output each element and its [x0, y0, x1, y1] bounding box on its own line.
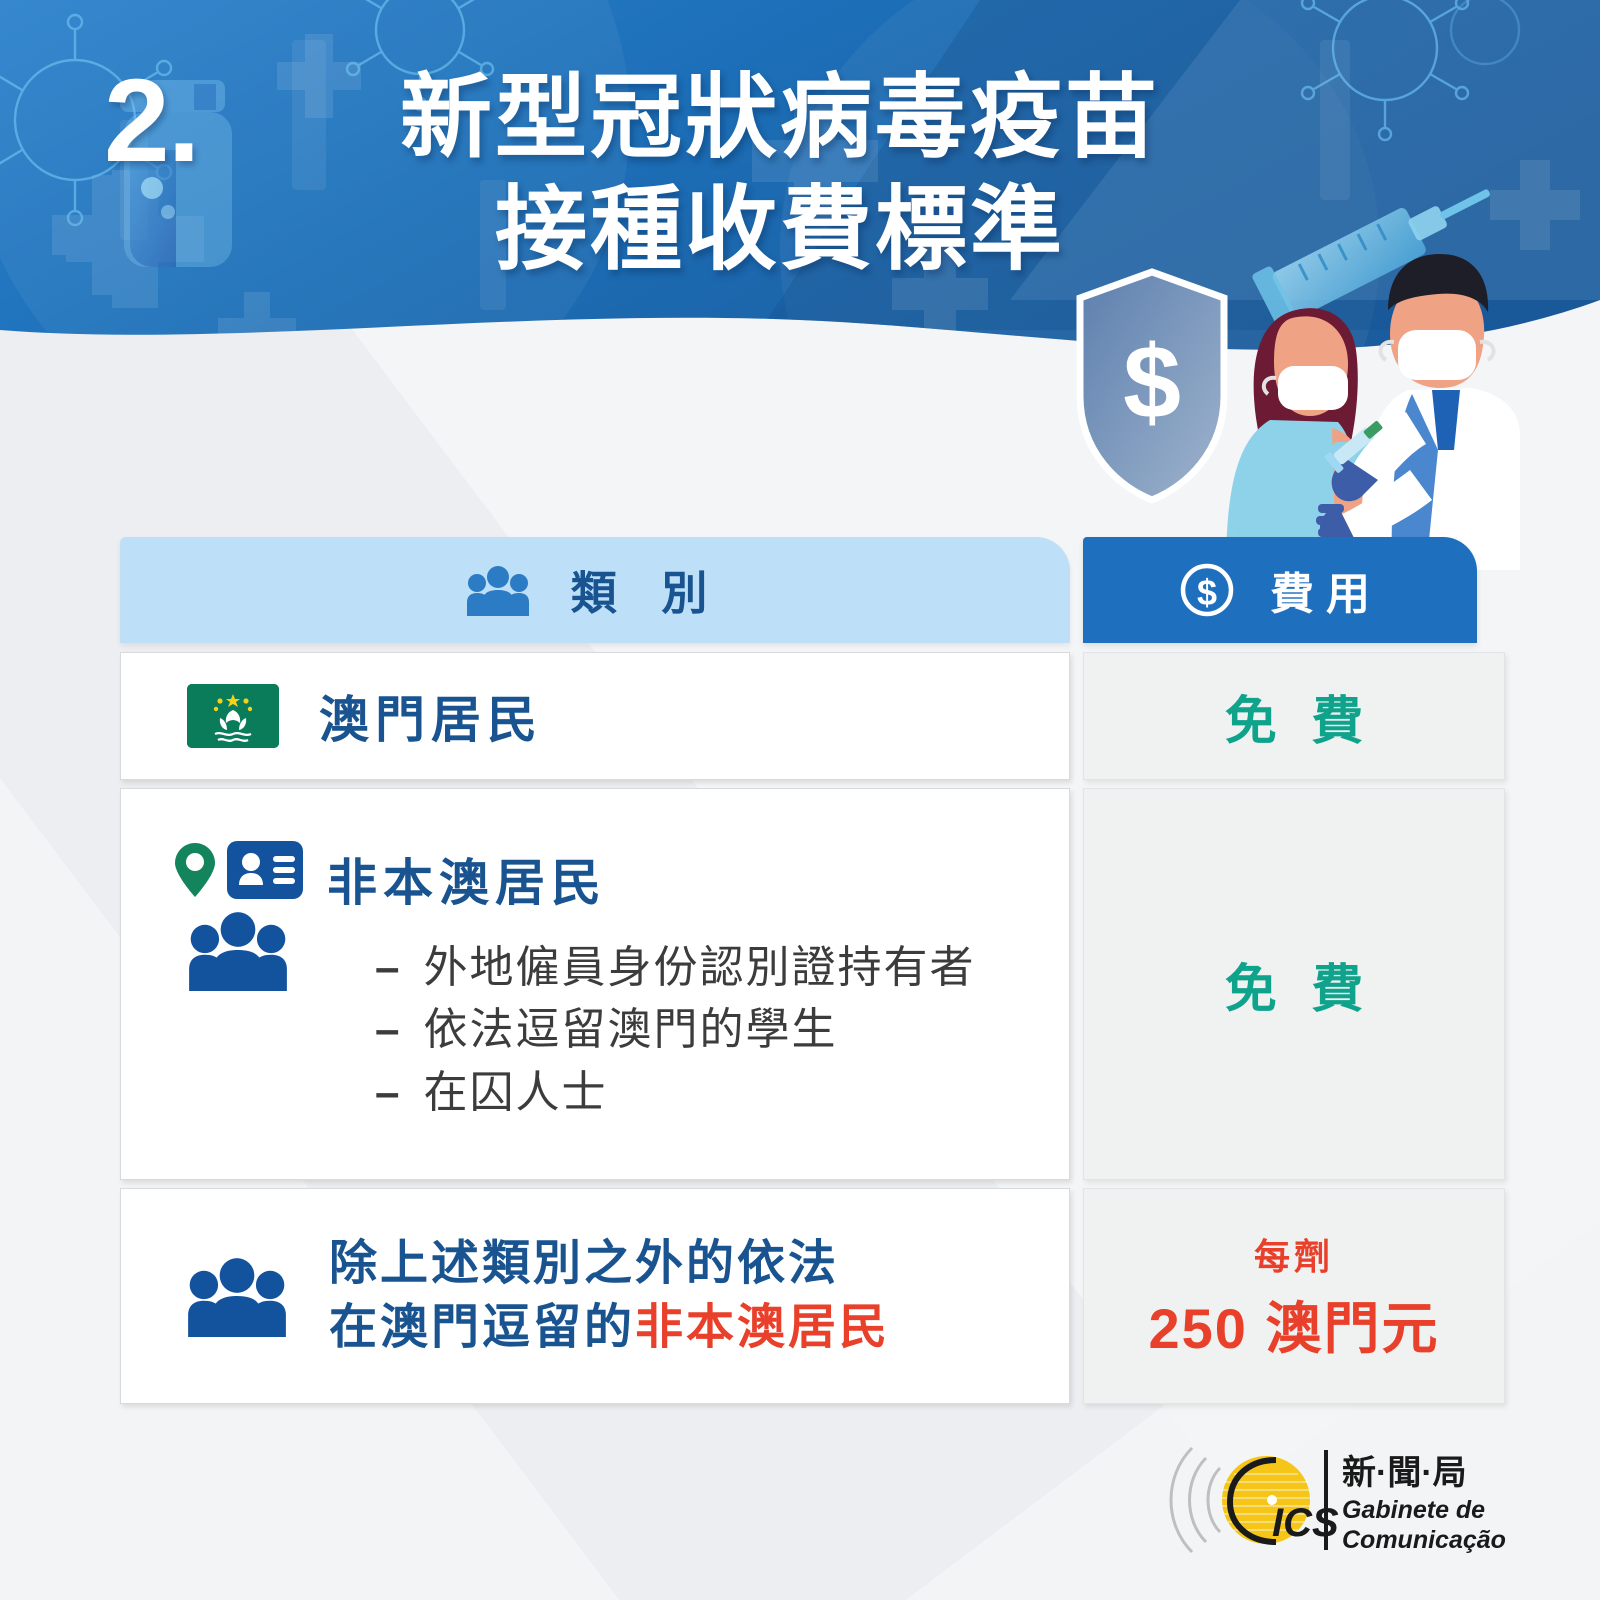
bullet-text: 在囚人士 — [423, 1062, 607, 1124]
people-group-icon — [185, 1255, 289, 1337]
list-item: – 外地僱員身份認別證持有者 — [375, 937, 975, 999]
fee-value: 免 費 — [1215, 679, 1373, 754]
fee-table: 類 別 $ 費用 — [0, 0, 1600, 1600]
id-card-icon — [227, 841, 303, 899]
table-header-category-label: 類 別 — [555, 557, 724, 623]
logo-name-pt-line-1: Gabinete de — [1342, 1496, 1485, 1524]
bullet-dash: – — [375, 1062, 401, 1124]
table-row-fee: 免 費 — [1083, 652, 1505, 780]
bullet-text: 依法逗留澳門的學生 — [423, 999, 837, 1061]
list-item: – 在囚人士 — [375, 1062, 975, 1124]
list-item: – 依法逗留澳門的學生 — [375, 999, 975, 1061]
bullet-dash: – — [375, 999, 401, 1061]
location-pin-icon — [173, 841, 217, 899]
row-category-label: 澳門居民 — [319, 680, 543, 752]
ics-logo-icon: ICS — [1222, 1456, 1339, 1545]
fee-unit-label: 每劑 — [1254, 1228, 1334, 1280]
dollar-circle-icon: $ — [1178, 561, 1236, 619]
gcs-logo: ICS 新·聞·局 Gabinete de Comunicação Social — [1148, 1432, 1508, 1568]
table-row: 除上述類別之外的依法 在澳門逗留的非本澳居民 — [120, 1188, 1070, 1404]
svg-text:$: $ — [1197, 572, 1217, 613]
svg-text:ICS: ICS — [1272, 1501, 1339, 1545]
people-group-icon — [186, 909, 290, 991]
table-row-fee: 免 費 — [1083, 788, 1505, 1180]
row-category-label: 非本澳居民 — [327, 843, 975, 915]
table-header-fee-label: 費用 — [1258, 558, 1382, 622]
macau-flag-icon — [187, 684, 279, 748]
row-category-label: 除上述類別之外的依法 在澳門逗留的非本澳居民 — [329, 1232, 890, 1361]
row-category-line-2-prefix: 在澳門逗留的 — [329, 1301, 635, 1354]
row-category-highlight: 非本澳居民 — [635, 1301, 890, 1354]
logo-name-pt-line-2: Comunicação Social — [1342, 1526, 1508, 1554]
row-category-line-2: 在澳門逗留的非本澳居民 — [329, 1296, 890, 1360]
table-row-fee: 每劑 250 澳門元 — [1083, 1188, 1505, 1404]
bullet-dash: – — [375, 937, 401, 999]
bullet-text: 外地僱員身份認別證持有者 — [423, 937, 975, 999]
table-header-fee: $ 費用 — [1083, 537, 1477, 643]
row-category-line-1: 除上述類別之外的依法 — [329, 1232, 890, 1296]
row-icon-group — [175, 841, 301, 991]
table-row: 澳門居民 — [120, 652, 1070, 780]
table-row: 非本澳居民 – 外地僱員身份認別證持有者 – 依法逗留澳門的學生 – 在囚人士 — [120, 788, 1070, 1180]
table-header-category: 類 別 — [120, 537, 1070, 643]
infographic-canvas: 2. 新型冠狀病毒疫苗 接種收費標準 $ — [0, 0, 1600, 1600]
logo-name-zh: 新·聞·局 — [1342, 1454, 1467, 1492]
people-group-icon — [467, 564, 529, 616]
signal-waves-icon — [1171, 1448, 1220, 1552]
fee-value: 免 費 — [1215, 947, 1373, 1022]
row-bullet-list: – 外地僱員身份認別證持有者 – 依法逗留澳門的學生 – 在囚人士 — [327, 937, 975, 1124]
fee-amount: 250 澳門元 — [1149, 1284, 1440, 1365]
